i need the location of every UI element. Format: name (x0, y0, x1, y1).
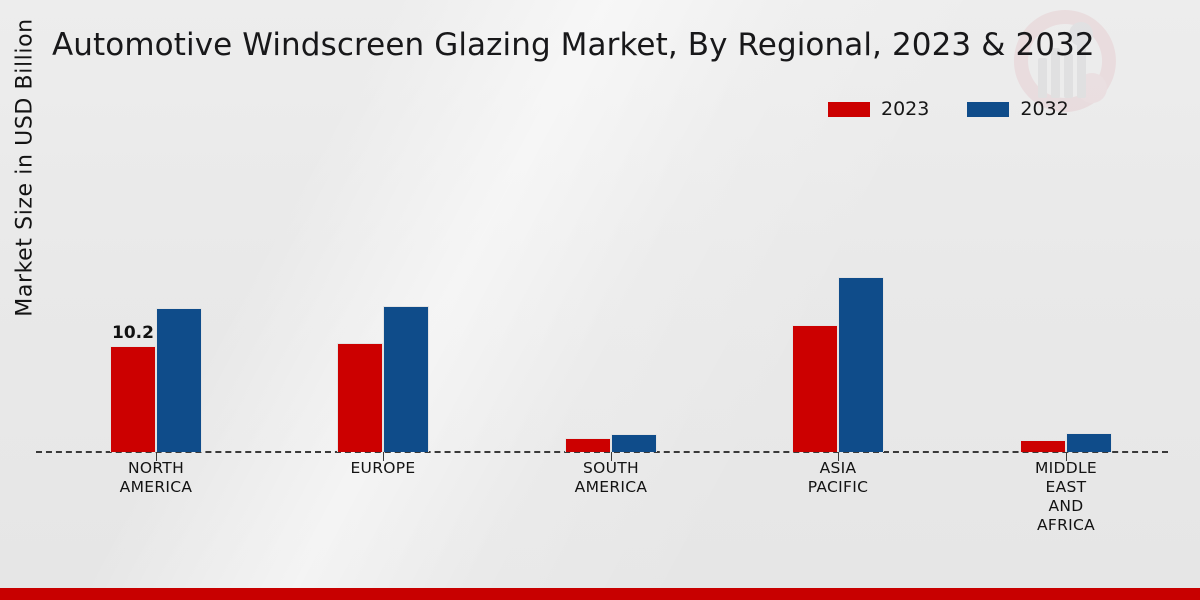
x-label-line: ASIA (743, 459, 933, 478)
bar-2032-north-america[interactable] (156, 308, 202, 452)
bar-2023-europe[interactable] (337, 343, 383, 452)
x-label-middle-east-and-africa: MIDDLE EAST AND AFRICA (971, 459, 1161, 535)
bar-2023-north-america[interactable]: 10.2 (110, 346, 156, 452)
x-label-line: AMERICA (516, 478, 706, 497)
bar-group-asia-pacific (792, 252, 884, 452)
bar-2023-middle-east-and-africa[interactable] (1020, 440, 1066, 452)
x-label-line: SOUTH (516, 459, 706, 478)
x-label-europe: EUROPE (288, 459, 478, 478)
x-label-north-america: NORTH AMERICA (61, 459, 251, 497)
bar-2023-asia-pacific[interactable] (792, 325, 838, 452)
x-label-line: EUROPE (288, 459, 478, 478)
bar-group-north-america: 10.2 (110, 252, 202, 452)
x-label-line: AND (971, 497, 1161, 516)
plot-area: 10.2 NORTH AMERICA EUROPE SOUTH AMERICA (0, 0, 1200, 600)
x-label-line: MIDDLE (971, 459, 1161, 478)
bar-2032-south-america[interactable] (611, 434, 657, 452)
bar-2032-europe[interactable] (383, 306, 429, 452)
x-label-line: EAST (971, 478, 1161, 497)
x-label-line: PACIFIC (743, 478, 933, 497)
x-label-line: AFRICA (971, 516, 1161, 535)
bar-group-europe (337, 252, 429, 452)
bar-2032-middle-east-and-africa[interactable] (1066, 433, 1112, 452)
chart-figure: Automotive Windscreen Glazing Market, By… (0, 0, 1200, 600)
bar-value-label-north-america-2023: 10.2 (112, 323, 154, 343)
x-label-asia-pacific: ASIA PACIFIC (743, 459, 933, 497)
x-label-line: AMERICA (61, 478, 251, 497)
bar-group-middle-east-and-africa (1020, 252, 1112, 452)
bar-2032-asia-pacific[interactable] (838, 277, 884, 452)
x-label-line: NORTH (61, 459, 251, 478)
footer-accent-bar (0, 588, 1200, 600)
bar-group-south-america (565, 252, 657, 452)
bar-2023-south-america[interactable] (565, 438, 611, 452)
x-label-south-america: SOUTH AMERICA (516, 459, 706, 497)
